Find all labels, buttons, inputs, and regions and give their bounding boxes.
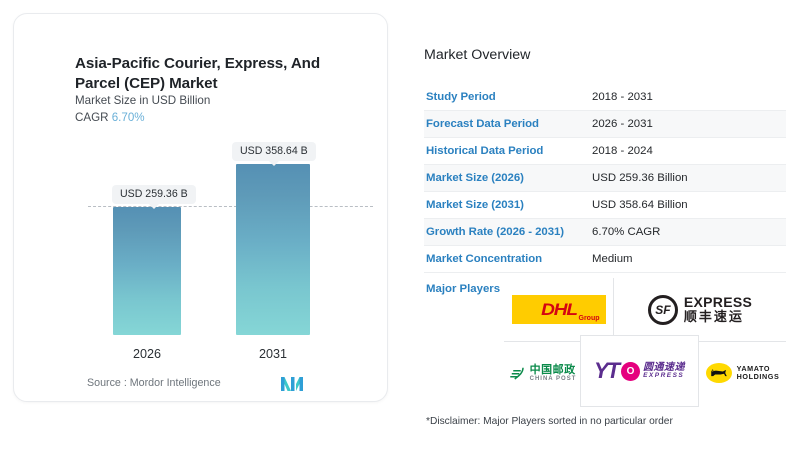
player-logo-china-post: 中国邮政 CHINA POST xyxy=(504,341,580,404)
sf-express-logo-icon: SF EXPRESS 顺丰速运 xyxy=(648,295,752,325)
table-row: Market Size (2026) USD 259.36 Billion xyxy=(424,165,786,192)
row-label: Study Period xyxy=(424,91,592,103)
dhl-group-text: Group xyxy=(579,315,600,322)
major-players-logo-grid: DHL Group SF EXPRESS 顺丰速运 xyxy=(504,278,786,406)
bar-2026[interactable] xyxy=(113,207,181,335)
player-logo-sf-express: SF EXPRESS 顺丰速运 xyxy=(614,278,786,341)
market-overview-panel: Market Overview Study Period 2018 - 2031… xyxy=(424,0,786,453)
chart-card: Asia-Pacific Courier, Express, And Parce… xyxy=(13,13,388,402)
table-row: Market Size (2031) USD 358.64 Billion xyxy=(424,192,786,219)
yamato-cat-icon xyxy=(706,363,732,383)
china-post-english: CHINA POST xyxy=(530,376,577,383)
row-value: 2018 - 2031 xyxy=(592,91,653,103)
row-value: USD 259.36 Billion xyxy=(592,172,688,184)
yto-monogram: YT xyxy=(594,360,618,382)
row-label: Market Size (2026) xyxy=(424,172,592,184)
bar-chart-plot: USD 259.36 B USD 358.64 B 2026 2031 xyxy=(14,14,389,403)
sf-monogram: SF xyxy=(648,295,678,325)
sf-express-chinese: 顺丰速运 xyxy=(684,310,752,324)
dhl-wordmark: DHL xyxy=(541,301,577,318)
player-logo-dhl: DHL Group xyxy=(504,278,614,341)
x-axis-tick-2031: 2031 xyxy=(228,347,318,361)
row-label: Market Size (2031) xyxy=(424,199,592,211)
row-value: USD 358.64 Billion xyxy=(592,199,688,211)
major-players-label: Major Players xyxy=(426,283,500,295)
table-row: Historical Data Period 2018 - 2024 xyxy=(424,138,786,165)
yamato-line2: HOLDINGS xyxy=(737,373,780,381)
panel-title: Market Overview xyxy=(424,47,530,63)
table-row: Forecast Data Period 2026 - 2031 xyxy=(424,111,786,138)
yto-english: EXPRESS xyxy=(643,373,685,380)
row-label: Growth Rate (2026 - 2031) xyxy=(424,226,592,238)
table-row: Growth Rate (2026 - 2031) 6.70% CAGR xyxy=(424,219,786,246)
player-logo-yto-express: YT O 圆通速递 EXPRESS xyxy=(580,335,699,407)
table-row: Market Concentration Medium xyxy=(424,246,786,273)
bar-2031[interactable] xyxy=(236,164,310,335)
sf-express-english: EXPRESS xyxy=(684,295,752,310)
dhl-logo-icon: DHL Group xyxy=(512,295,606,324)
china-post-chinese: 中国邮政 xyxy=(530,364,577,376)
row-label: Market Concentration xyxy=(424,253,592,265)
player-logo-yamato-holdings: YAMATO HOLDINGS xyxy=(699,341,786,404)
disclaimer-text: *Disclaimer: Major Players sorted in no … xyxy=(426,416,673,427)
yamato-holdings-logo-icon: YAMATO HOLDINGS xyxy=(706,363,780,383)
row-label: Historical Data Period xyxy=(424,145,592,157)
bar-value-label-2026: USD 259.36 B xyxy=(112,185,196,204)
row-value: 2026 - 2031 xyxy=(592,118,653,130)
row-value: 6.70% CAGR xyxy=(592,226,660,238)
overview-table: Study Period 2018 - 2031 Forecast Data P… xyxy=(424,84,786,273)
row-value: Medium xyxy=(592,253,633,265)
china-post-logo-icon: 中国邮政 CHINA POST xyxy=(508,364,577,383)
chart-source: Source : Mordor Intelligence xyxy=(87,377,221,389)
bar-value-label-2031: USD 358.64 B xyxy=(232,142,316,161)
screenshot-root: Asia-Pacific Courier, Express, And Parce… xyxy=(0,0,800,453)
x-axis-tick-2026: 2026 xyxy=(102,347,192,361)
yto-badge: O xyxy=(621,362,640,381)
mordor-intelligence-logo-icon xyxy=(281,375,303,391)
table-row: Study Period 2018 - 2031 xyxy=(424,84,786,111)
row-value: 2018 - 2024 xyxy=(592,145,653,157)
yto-express-logo-icon: YT O 圆通速递 EXPRESS xyxy=(594,360,685,382)
row-label: Forecast Data Period xyxy=(424,118,592,130)
